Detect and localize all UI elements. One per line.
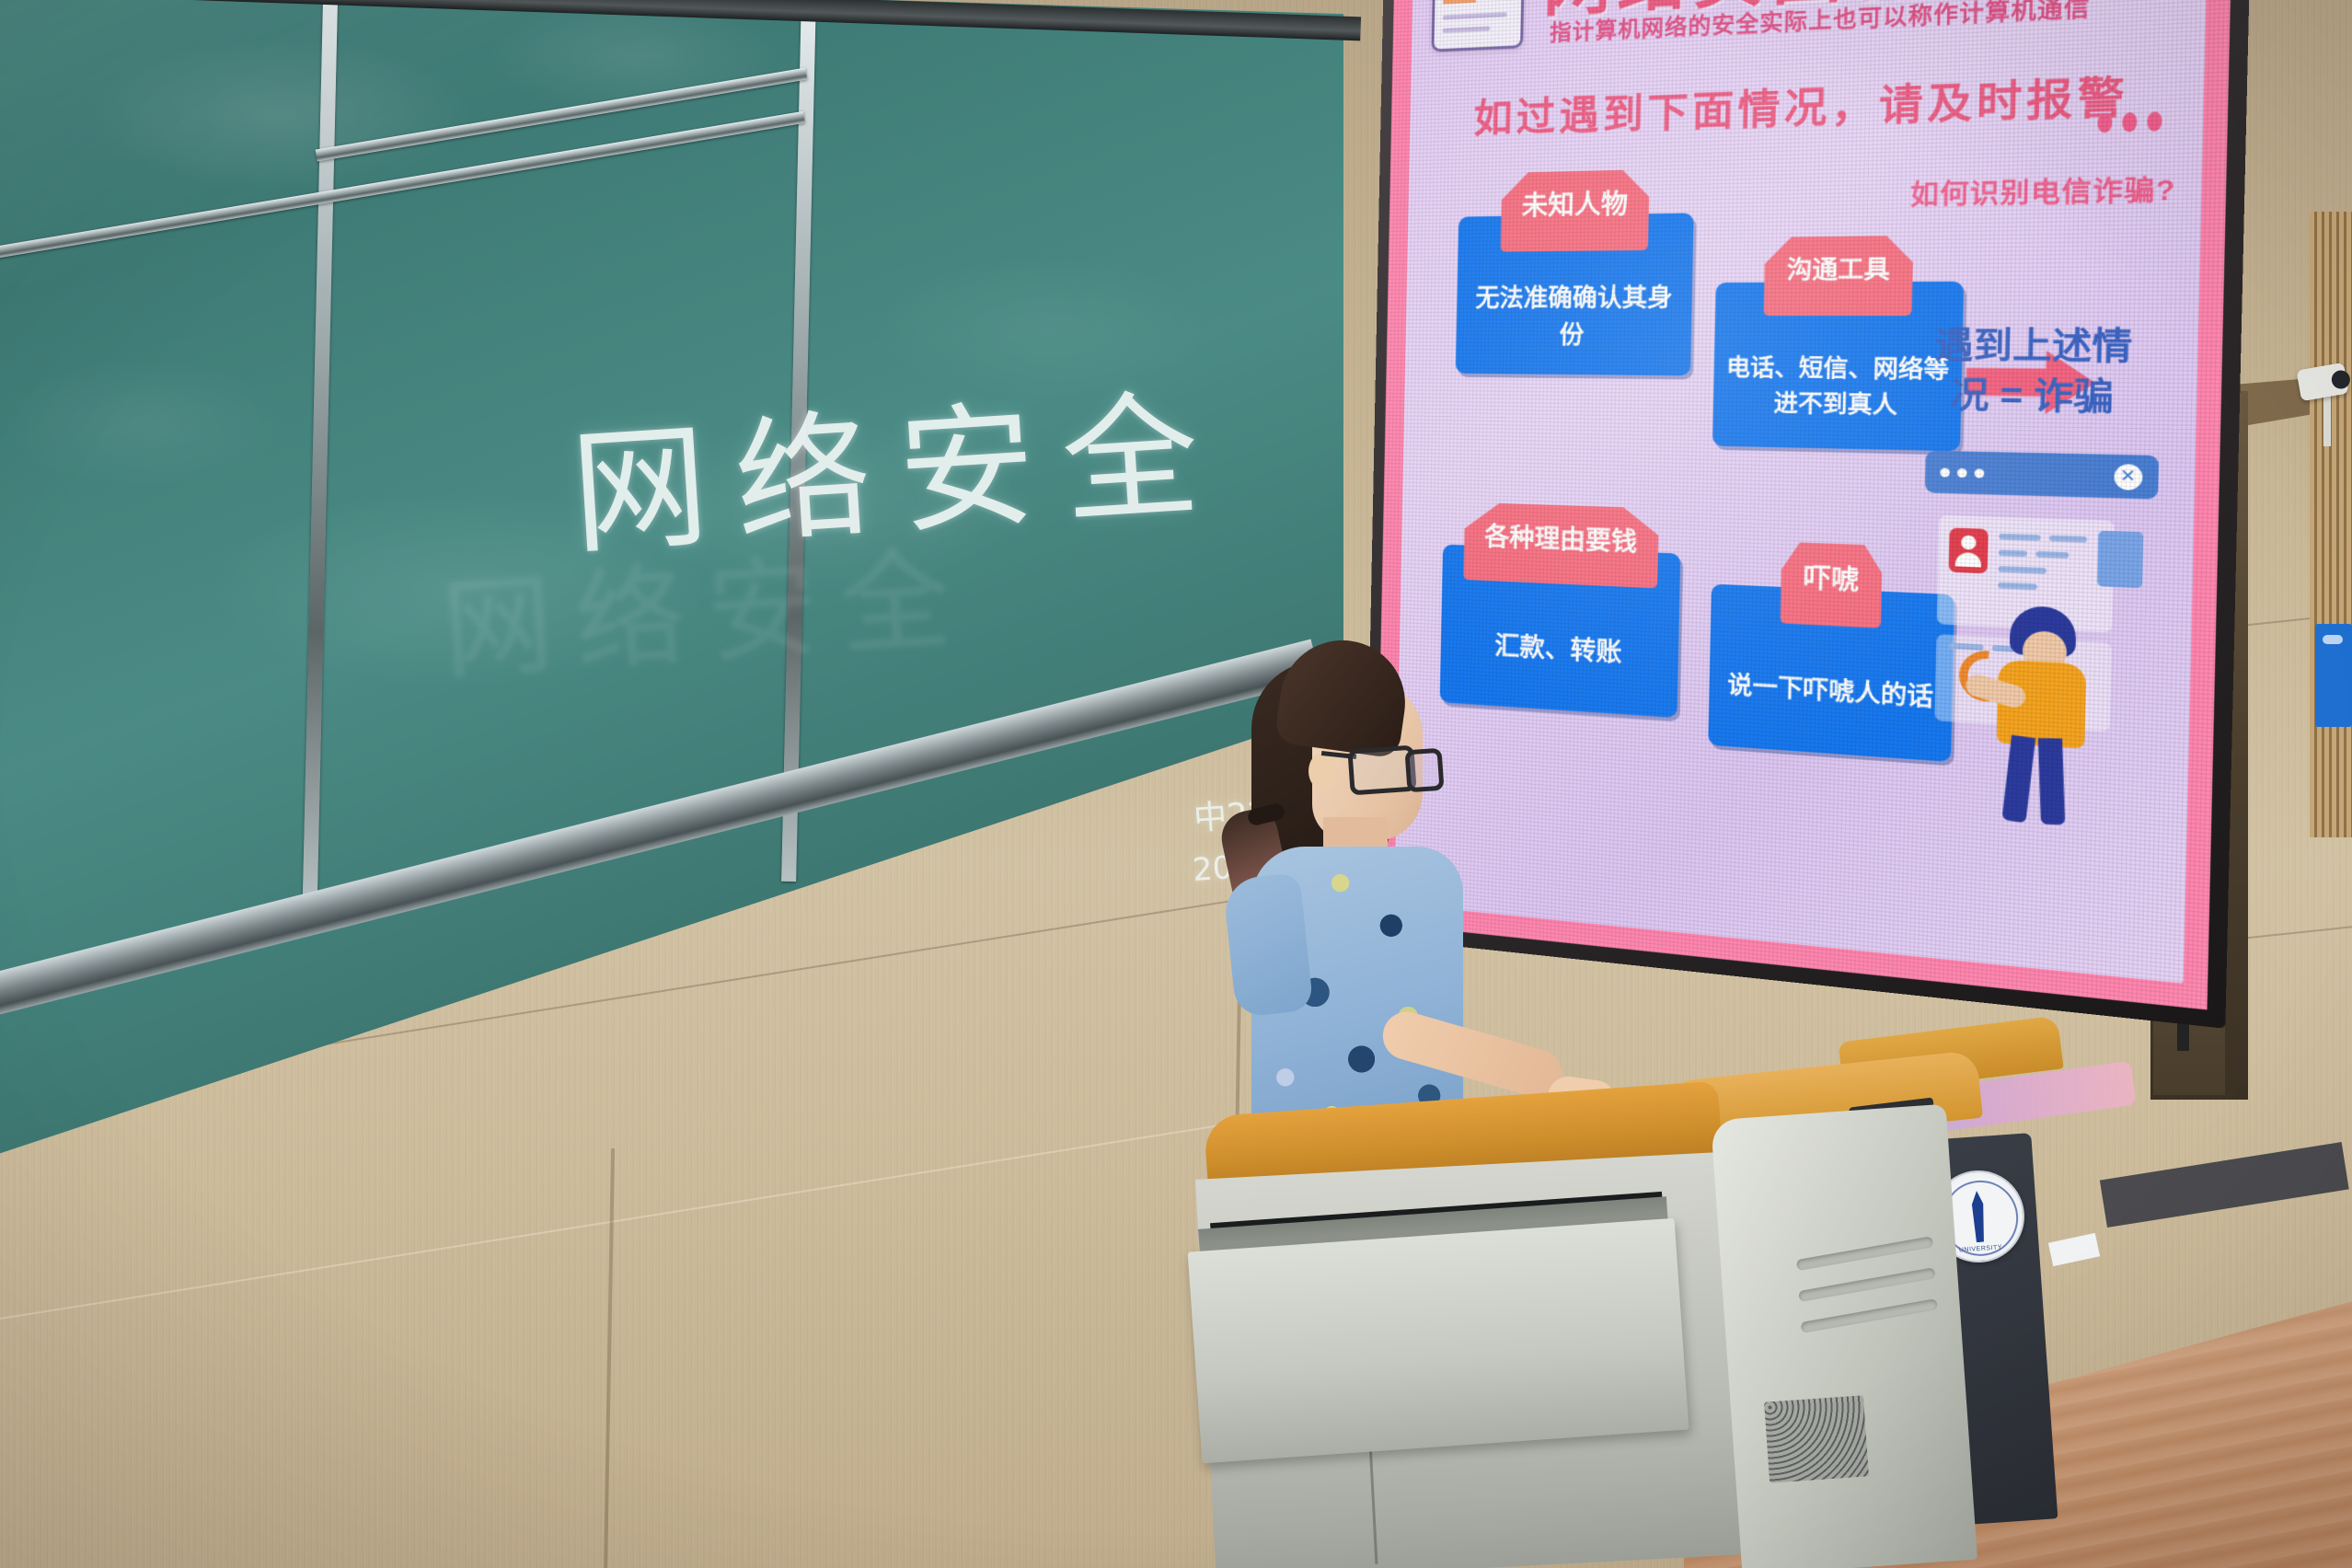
presenter-hair-top [1274, 632, 1412, 759]
camera-mount-arm [2323, 391, 2331, 446]
document-icon-line [1443, 26, 1491, 33]
slide-question: 如何识别电信诈骗? [1910, 167, 2177, 213]
lectern-speaker-grille [1764, 1395, 1869, 1482]
browser-title-bar: ✕ [1924, 451, 2158, 500]
slide-card: 各种理由要钱 汇款、转账 [1444, 502, 1681, 509]
user-avatar-icon [1948, 528, 1988, 574]
browser-text-line [2035, 551, 2069, 559]
glasses-icon [1404, 748, 1444, 793]
presenter-ear [1309, 753, 1336, 790]
presenter-sleeve [1222, 872, 1313, 1018]
slide-card: 吓唬 说一下吓唬人的话 [1712, 539, 1955, 548]
slide-card-tab: 吓唬 [1781, 542, 1884, 628]
document-icon-line [1443, 12, 1507, 20]
document-icon [1432, 0, 1526, 52]
led-display[interactable]: 网络负面影响 指计算机网络的安全实际上也可以称作计算机通信 如过遇到下面情况，请… [1375, 0, 2232, 1009]
classroom-scene: 网络安全 网络安全 中2? 2023 [0, 0, 2352, 1568]
browser-illustration: ✕ [1919, 451, 2159, 768]
browser-text-line [1998, 549, 2026, 557]
lectern-right-housing [1711, 1104, 1977, 1568]
slide-card: 沟通工具 电话、短信、网络等 进不到真人 [1717, 235, 1965, 237]
person-illustration [1975, 604, 2112, 826]
blackboard-main-text: 网络安全 [565, 342, 1231, 581]
vent-slot-icon [1798, 1267, 1936, 1302]
slide-card-tab: 未知人物 [1501, 169, 1650, 252]
lectern[interactable]: UNIVERSITY [1205, 1003, 2116, 1568]
slide: 网络负面影响 指计算机网络的安全实际上也可以称作计算机通信 如过遇到下面情况，请… [1394, 0, 2207, 983]
slide-card: 未知人物 无法准确确认其身份 [1460, 168, 1695, 174]
blackboard: 网络安全 网络安全 [0, 0, 1343, 1159]
slide-card-tab: 各种理由要钱 [1463, 502, 1659, 589]
illustration-leg [2037, 738, 2065, 824]
vent-slot-icon [1800, 1298, 1938, 1333]
wall-sign [2315, 624, 2352, 727]
browser-dots-icon [1940, 467, 1984, 478]
vent-slot-icon [1796, 1236, 1934, 1271]
illustration-leg [2001, 735, 2035, 824]
slide-conclusion: 遇到上述情 况 = 诈骗 [1928, 322, 2139, 423]
browser-thumbnail [2097, 531, 2143, 589]
slide-card-tab: 沟通工具 [1764, 236, 1914, 316]
display-panel: 网络负面影响 指计算机网络的安全实际上也可以称作计算机通信 如过遇到下面情况，请… [1375, 0, 2232, 1009]
lectern-drawer[interactable] [1188, 1218, 1689, 1463]
close-icon: ✕ [2114, 464, 2142, 490]
decorative-dots-icon [2097, 111, 2162, 133]
document-icon-image [1444, 0, 1478, 5]
slide-heading: 如过遇到下面情况，请及时报警 [1473, 63, 2129, 144]
slatted-wall-panel [2310, 212, 2352, 837]
